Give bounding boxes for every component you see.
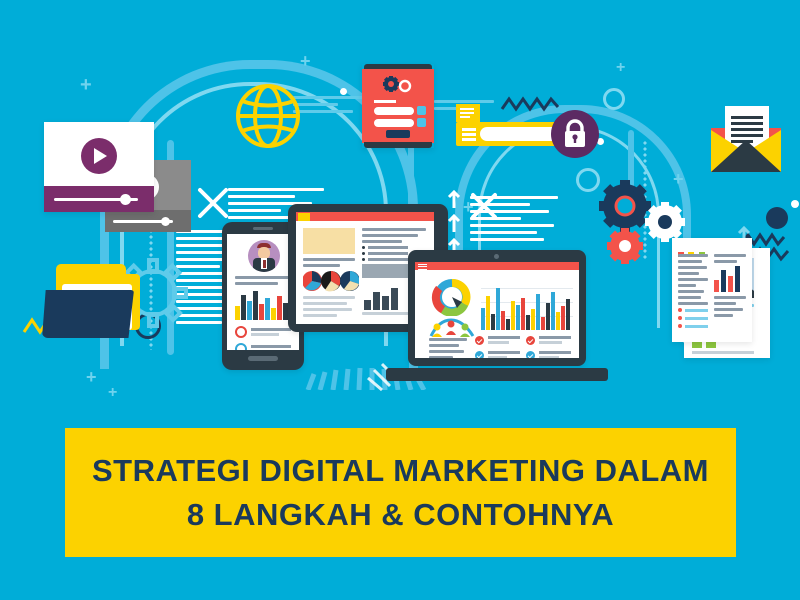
- video-progress-knob-primary[interactable]: [120, 194, 131, 205]
- yellow-note-icon: [456, 104, 480, 122]
- document-textlines-col2: [714, 254, 746, 266]
- tablet-gray-block: [362, 264, 408, 278]
- decor-plus-2: +: [86, 368, 97, 386]
- decor-circle-filled-1: [766, 207, 788, 229]
- decor-dot-1: [791, 200, 799, 208]
- decor-plus-8: +: [616, 60, 625, 76]
- phone-bar-chart: [235, 290, 291, 320]
- phone-avatar: [248, 240, 280, 272]
- decor-x-mark-left: [196, 186, 230, 225]
- video-player-card-front[interactable]: [44, 122, 154, 212]
- tablet-pie-charts: [303, 270, 359, 292]
- title-banner: STRATEGI DIGITAL MARKETING DALAM 8 LANGK…: [65, 428, 736, 557]
- document-bullet-list: [678, 308, 708, 332]
- laptop-header-menu-icon[interactable]: [418, 264, 427, 270]
- decor-circle-outline-3: [603, 88, 625, 110]
- laptop-screen[interactable]: [415, 262, 579, 358]
- gear-icon-settings: [382, 76, 412, 99]
- settings-checkbox-1[interactable]: [417, 106, 426, 115]
- tablet-pie-c: [340, 271, 359, 291]
- tablet-textlines-left: [303, 258, 355, 270]
- laptop-textlines-left: [429, 338, 467, 358]
- document-textlines-col2b: [714, 296, 746, 320]
- title-line-2: 8 LANGKAH & CONTOHNYA: [187, 493, 614, 537]
- settings-panel[interactable]: [362, 64, 434, 148]
- check-icon-blue: [235, 343, 247, 350]
- check-icon-red-1: [475, 336, 484, 345]
- settings-toggle-row-2[interactable]: [374, 119, 414, 127]
- settings-submit-button[interactable]: [386, 130, 410, 138]
- phone-speaker: [253, 227, 273, 230]
- decor-x-mark-right: [470, 192, 498, 225]
- folder-front-panel: [42, 290, 134, 338]
- tablet-pie-a: [303, 271, 322, 291]
- phone-checklist: [235, 326, 291, 350]
- padlock-icon[interactable]: [551, 110, 599, 158]
- tablet-bar-chart: [364, 284, 404, 310]
- check-icon-red-2: [526, 336, 535, 345]
- check-icon-blue-2: [526, 351, 535, 358]
- phone-home-button[interactable]: [248, 356, 278, 361]
- globe-icon: [234, 82, 302, 155]
- check-icon-red: [235, 326, 247, 338]
- decor-dot-3: [340, 88, 347, 95]
- folder-icon[interactable]: [42, 264, 140, 340]
- decor-plus-5: +: [300, 52, 311, 70]
- tablet-pie-b: [321, 271, 341, 291]
- decor-plus-3: +: [108, 385, 117, 401]
- document-textlines-col1: [678, 254, 708, 308]
- tablet-header-tab[interactable]: [298, 213, 310, 221]
- tablet-image-block: [303, 228, 355, 254]
- decor-textlines-topleft: [293, 96, 363, 117]
- document-bar-chart-front: [714, 266, 746, 292]
- envelope-icon[interactable]: [705, 100, 787, 174]
- tablet-textlines-right: [362, 228, 426, 246]
- video-progress-bar-primary[interactable]: [44, 186, 154, 212]
- title-line-1: STRATEGI DIGITAL MARKETING DALAM: [92, 449, 709, 493]
- play-icon-primary[interactable]: [81, 138, 117, 174]
- document-page-front: [672, 238, 752, 342]
- tablet-bullet-list: [362, 246, 408, 261]
- laptop-app-header: [415, 262, 579, 270]
- laptop-lid[interactable]: [408, 250, 586, 366]
- laptop-donut-chart: [431, 278, 473, 321]
- laptop-camera: [494, 254, 499, 259]
- decor-plus-1: +: [80, 75, 92, 95]
- laptop-checklist: [475, 336, 571, 358]
- video-progress-bar-secondary[interactable]: [105, 210, 191, 232]
- settings-checkbox-2[interactable]: [417, 118, 426, 127]
- settings-toggle-row-1[interactable]: [374, 107, 414, 115]
- video-progress-knob-secondary[interactable]: [161, 217, 170, 226]
- poster-canvas: + + + + + + + +: [0, 0, 800, 600]
- tablet-app-header: [296, 212, 434, 221]
- laptop-bar-chart: [481, 276, 573, 330]
- check-icon-blue-1: [475, 351, 484, 358]
- laptop-base: [386, 368, 608, 381]
- tablet-textlines-bottom: [303, 296, 355, 320]
- menu-icon[interactable]: [462, 128, 476, 141]
